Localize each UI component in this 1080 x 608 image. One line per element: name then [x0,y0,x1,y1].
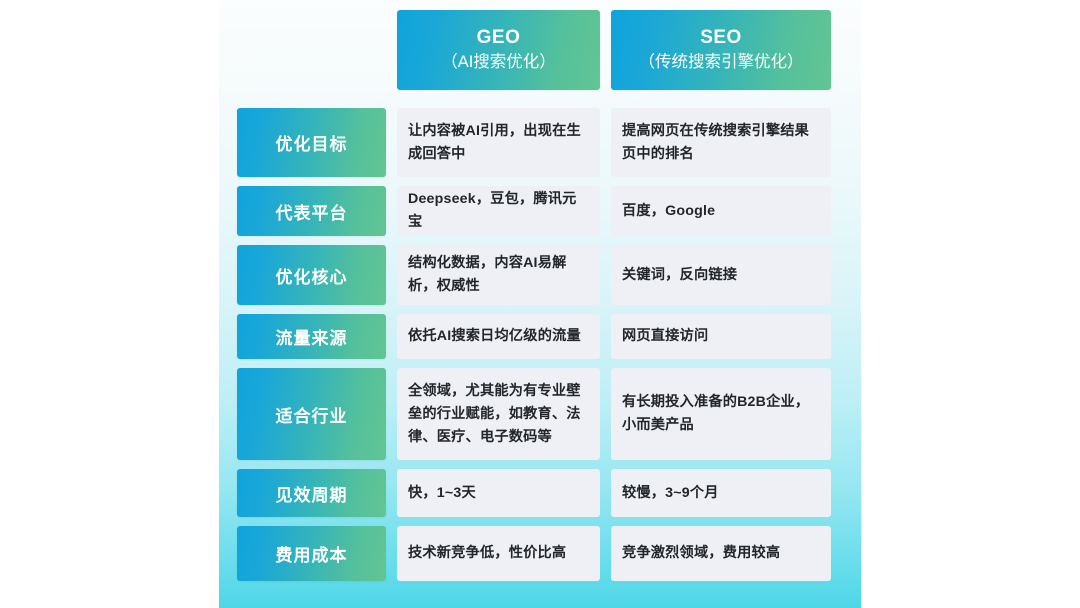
table-row: 优化核心结构化数据，内容AI易解析，权威性关键词，反向链接 [237,245,843,305]
row-seo-value-1: 百度，Google [611,186,831,236]
header-geo-title: GEO [477,28,521,49]
row-geo-value-5: 快，1~3天 [397,469,600,517]
header-cell-geo: GEO （AI搜索优化） [397,10,600,90]
row-seo-value-3: 网页直接访问 [611,314,831,359]
header-geo-subtitle: （AI搜索优化） [441,53,556,73]
header-cell-seo: SEO （传统搜索引擎优化） [611,10,831,90]
table-header-row: GEO （AI搜索优化） SEO （传统搜索引擎优化） [237,10,843,90]
row-geo-value-3: 依托AI搜索日均亿级的流量 [397,314,600,359]
row-seo-value-2: 关键词，反向链接 [611,245,831,305]
row-label-0: 优化目标 [237,108,386,177]
row-seo-value-4: 有长期投入准备的B2B企业，小而美产品 [611,368,831,460]
table-row: 费用成本技术新竞争低，性价比高竞争激烈领域，费用较高 [237,526,843,581]
comparison-table: GEO （AI搜索优化） SEO （传统搜索引擎优化） 优化目标让内容被AI引用… [237,0,843,581]
row-seo-value-5: 较慢，3~9个月 [611,469,831,517]
table-row: 见效周期快，1~3天较慢，3~9个月 [237,469,843,517]
table-row: 优化目标让内容被AI引用，出现在生成回答中提高网页在传统搜索引擎结果页中的排名 [237,108,843,177]
table-row: 流量来源依托AI搜索日均亿级的流量网页直接访问 [237,314,843,359]
row-label-5: 见效周期 [237,469,386,517]
row-label-1: 代表平台 [237,186,386,236]
header-label-spacer [237,10,386,90]
row-geo-value-2: 结构化数据，内容AI易解析，权威性 [397,245,600,305]
row-label-6: 费用成本 [237,526,386,581]
row-label-2: 优化核心 [237,245,386,305]
header-seo-subtitle: （传统搜索引擎优化） [639,53,804,73]
header-seo-title: SEO [700,28,742,49]
table-body: 优化目标让内容被AI引用，出现在生成回答中提高网页在传统搜索引擎结果页中的排名代… [237,108,843,581]
row-geo-value-4: 全领域，尤其能为有专业壁垒的行业赋能，如教育、法律、医疗、电子数码等 [397,368,600,460]
row-label-4: 适合行业 [237,368,386,460]
table-row: 适合行业全领域，尤其能为有专业壁垒的行业赋能，如教育、法律、医疗、电子数码等有长… [237,368,843,460]
row-seo-value-6: 竞争激烈领域，费用较高 [611,526,831,581]
row-label-3: 流量来源 [237,314,386,359]
row-seo-value-0: 提高网页在传统搜索引擎结果页中的排名 [611,108,831,177]
comparison-table-canvas: GEO （AI搜索优化） SEO （传统搜索引擎优化） 优化目标让内容被AI引用… [219,0,861,608]
table-row: 代表平台Deepseek，豆包，腾讯元宝百度，Google [237,186,843,236]
page-stage: GEO （AI搜索优化） SEO （传统搜索引擎优化） 优化目标让内容被AI引用… [0,0,1080,608]
row-geo-value-6: 技术新竞争低，性价比高 [397,526,600,581]
row-geo-value-0: 让内容被AI引用，出现在生成回答中 [397,108,600,177]
row-geo-value-1: Deepseek，豆包，腾讯元宝 [397,186,600,236]
